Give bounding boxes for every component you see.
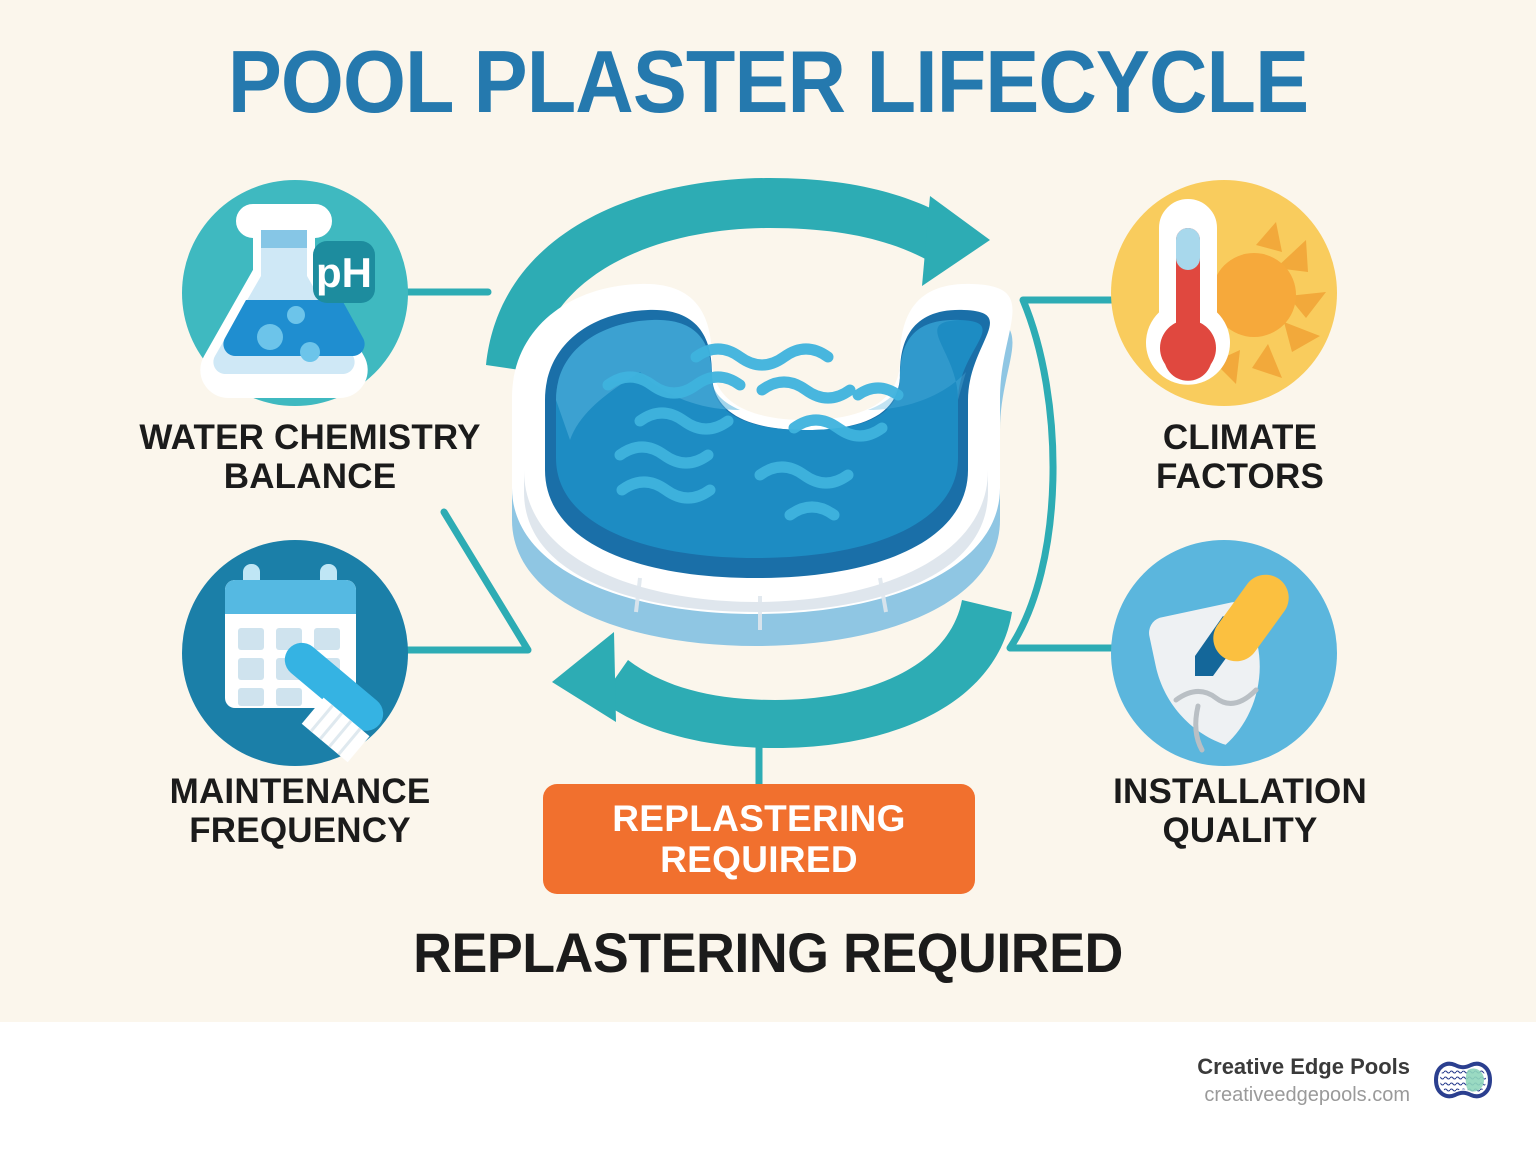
node-label-water-chemistry: WATER CHEMISTRY BALANCE [60,418,560,496]
node-label-maintenance-frequency: MAINTENANCE FREQUENCY [40,772,560,850]
infographic-canvas: POOL PLASTER LIFECYCLE [0,0,1536,1154]
connector-maintenance-to-cycle [404,512,528,650]
node-icon-installation-quality[interactable] [1111,540,1337,766]
node-label-climate-factors: CLIMATE FACTORS [1030,418,1450,496]
node-label-installation-quality: INSTALLATION QUALITY [1030,772,1450,850]
node-icon-climate-factors[interactable] [1111,180,1337,406]
bubble-icon [257,324,283,350]
brand-url: creativeedgepools.com [1197,1082,1410,1109]
ph-badge-label: pH [316,249,372,296]
peanut-pool-logo [1432,1057,1494,1103]
brand-name: Creative Edge Pools [1197,1052,1410,1082]
outcome-badge[interactable]: REPLASTERING REQUIRED [543,784,975,894]
bubble-icon [287,306,305,324]
footer-bar: Creative Edge Pools creativeedgepools.co… [0,1022,1536,1154]
node-icon-maintenance-frequency[interactable] [182,540,408,766]
bubble-icon [300,342,320,362]
swimming-pool-illustration [512,284,1012,646]
node-icon-water-chemistry[interactable]: pH [182,180,408,406]
bottom-caption: REPLASTERING REQUIRED [31,920,1506,985]
